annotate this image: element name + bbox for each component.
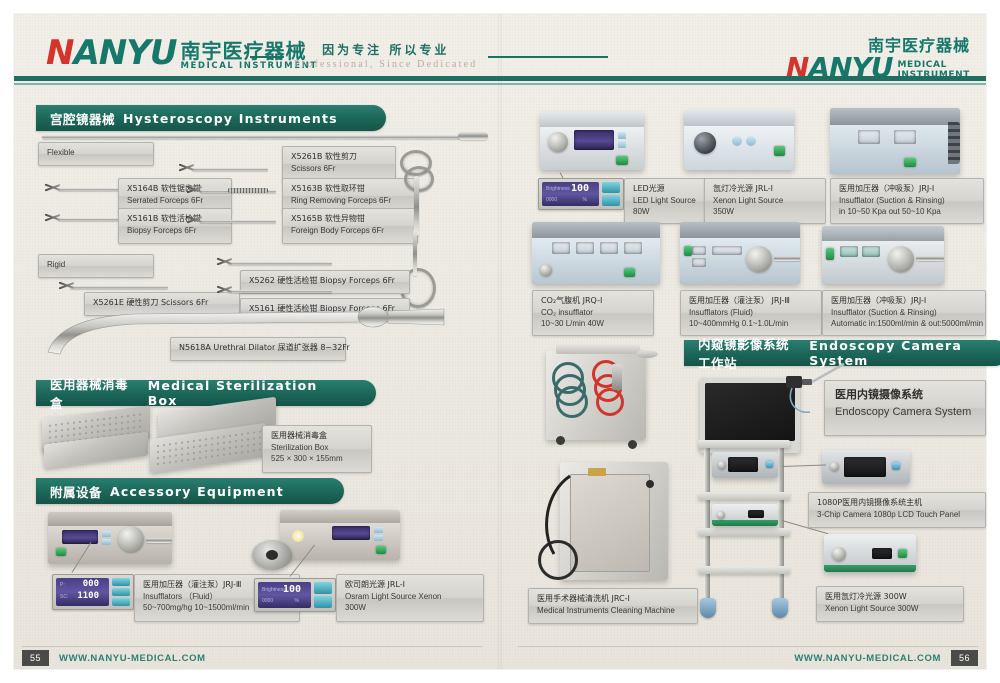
panel-led-keys[interactable] <box>602 182 620 206</box>
device-label-insufflator-suction-2-line2: Insufflator (Suction & Rinsing) <box>831 307 977 319</box>
device-label-xenon-line1: 氙灯冷光源 JRL-Ⅰ <box>713 183 817 195</box>
device-led-knob <box>548 132 568 152</box>
device-xenon-btn1 <box>732 136 742 146</box>
panel-insufflator-fluid-value1: 000 <box>83 579 99 589</box>
device-led-light-source <box>540 112 644 170</box>
instrument-label-rigid-biopsy-x5262-text: X5262 硬性活检钳 Biopsy Forceps 6Fr <box>249 275 401 287</box>
brand-wordmark-rest: ANYU <box>73 33 176 73</box>
panel-osram-unit2: % <box>295 598 299 604</box>
device-cleaning-cart-top <box>556 344 640 354</box>
scissors-ring-bottom <box>404 166 434 192</box>
trolley-camera-unit-knob <box>718 461 726 469</box>
footer-left: 55 WWW.NANYU-MEDICAL.COM <box>22 647 216 669</box>
panel-insufflator-fluid-label1: P: <box>60 582 65 588</box>
instrument-label-ring-removing-cn: X5163B 软性取环钳 <box>291 183 409 195</box>
instrument-scissors-shaft <box>192 168 268 171</box>
instrument-label-urethral-dilator: N5618A Urethral Dilator 尿道扩张器 8~32Fr <box>170 337 346 361</box>
instrument-rigid-biopsy2-shaft <box>228 290 332 293</box>
tagline-text: 因为专注 所以专业 Professional, Since Dedicated <box>294 44 478 70</box>
device-insufflator-fluid-btn1 <box>102 531 111 537</box>
instrument-label-foreign-body-en: Foreign Body Forceps 6Fr <box>291 225 409 237</box>
device-osram-btn1 <box>374 527 383 533</box>
cleaning-cart-caster-2 <box>628 440 637 449</box>
brand-wordmark: NANYU <box>46 36 176 70</box>
instrument-rigid-biopsy1-shaft <box>228 262 332 265</box>
group-label-rigid: Rigid <box>38 254 154 278</box>
trolley-camera-unit <box>712 452 778 478</box>
device-label-co2-line1: CO₂气腹机 JRQ-Ⅰ <box>541 295 645 307</box>
header-rule-thick <box>14 76 986 81</box>
device-1080p-camera <box>822 450 910 484</box>
device-insufflator-suction-1-power <box>904 158 916 167</box>
device-insufflator-fluid-2-scr3 <box>712 246 742 255</box>
section-header-accessory-en: Accessory Equipment <box>110 484 284 499</box>
device-insufflator-fluid <box>48 512 172 564</box>
page-gutter <box>498 14 502 669</box>
device-insufflator-fluid-2-pump <box>746 246 772 272</box>
instrument-label-foreign-body: X5165B 软性异物钳 Foreign Body Forceps 6Fr <box>282 208 418 244</box>
device-label-insufflator-fluid-2-line2: Insufflators (Fluid) <box>689 307 813 319</box>
panel-key-down[interactable] <box>112 598 130 606</box>
device-cleaning-cabinet-badge <box>588 468 606 476</box>
panel-led-label2: 0000 <box>546 197 557 203</box>
panel-insufflator-fluid-lcd: P: 000 SC: 1100 <box>56 578 109 606</box>
device-osram-lamp-glow <box>292 530 304 542</box>
device-xenon-300w <box>824 534 916 572</box>
panel-led-key-down[interactable] <box>602 195 620 206</box>
instrument-rigid-scissors-shaft <box>70 286 168 289</box>
footer-url-left[interactable]: WWW.NANYU-MEDICAL.COM <box>59 653 206 664</box>
instrument-label-urethral-dilator-text: N5618A Urethral Dilator 尿道扩张器 8~32Fr <box>179 342 337 354</box>
device-label-xenon: 氙灯冷光源 JRL-Ⅰ Xenon Light Source 350W <box>704 178 826 224</box>
device-label-insufflator-fluid-2-line3: 10~400mmHg 0.1~1.0L/min <box>689 318 813 330</box>
device-label-xenon-line2: Xenon Light Source <box>713 195 817 207</box>
device-label-co2-line2: CO₂ insufflator <box>541 307 645 319</box>
section-header-accessory-cn: 附属设备 <box>50 482 102 501</box>
device-osram-power <box>376 546 386 554</box>
device-insufflator-suction-2-top <box>822 226 944 241</box>
device-insufflator-fluid-2-top <box>680 222 800 238</box>
panel-led-key-up[interactable] <box>602 182 620 193</box>
trolley-light-source-port <box>717 511 725 519</box>
footer-url-right[interactable]: WWW.NANYU-MEDICAL.COM <box>794 653 941 664</box>
sterilization-box-closed <box>42 412 152 468</box>
panel-osram-label2: 0000 <box>262 598 273 604</box>
device-label-insufflator-fluid-2: 医用加压器（灌注泵） JRJ-Ⅲ Insufflators (Fluid) 10… <box>680 290 822 336</box>
device-insufflator-suction-2-tube <box>916 256 944 261</box>
device-label-insufflator-suction-1: 医用加压器（冲吸泵）JRJ-Ⅰ Insufflator (Suction & R… <box>830 178 984 224</box>
camera-system-label-main: 医用内镜摄像系统 Endoscopy Camera System <box>824 380 986 436</box>
panel-led-value1: 100 <box>571 183 589 194</box>
trolley-caster-right <box>772 598 788 618</box>
footer-right: WWW.NANYU-MEDICAL.COM 56 <box>784 647 978 669</box>
instrument-label-scissors: X5261B 软性剪刀 Scissors 6Fr <box>282 146 396 182</box>
panel-osram-key-down[interactable] <box>314 596 332 608</box>
device-label-insufflator-fluid-2-line1: 医用加压器（灌注泵） JRJ-Ⅲ <box>689 295 813 307</box>
cleaning-cabinet-hose-line <box>528 470 588 590</box>
device-insufflator-suction-2-power <box>826 248 834 260</box>
device-osram-lamp-aperture <box>266 550 278 560</box>
device-insufflator-suction-2-scr2 <box>862 246 880 257</box>
instrument-ring-knurl <box>228 188 268 193</box>
device-label-co2-line3: 10~30 L/min 40W <box>541 318 645 330</box>
device-insufflator-suction-1-vents <box>948 122 960 164</box>
device-insufflator-suction-1-screen2 <box>894 130 916 144</box>
panel-led-lcd: Brightness 100 0000 % <box>542 182 599 206</box>
device-xenon-light-source <box>684 110 794 170</box>
device-xenon-btn2 <box>746 136 756 146</box>
device-insufflator-suction-2 <box>822 226 944 284</box>
device-insufflator-suction-2-scr1 <box>840 246 858 257</box>
group-label-rigid-text: Rigid <box>47 259 145 271</box>
device-co2-screen2 <box>576 242 594 254</box>
device-insufflator-suction-1-screen1 <box>858 130 880 144</box>
instrument-label-scissors-cn: X5261B 软性剪刀 <box>291 151 387 163</box>
panel-osram-value1: 100 <box>283 584 301 595</box>
page-number-right: 56 <box>951 650 978 666</box>
device-insufflator-fluid-screen <box>62 530 98 544</box>
group-label-flexible-text: Flexible <box>47 147 145 159</box>
device-xenon-300w-power <box>898 549 907 558</box>
panel-led-unit2: % <box>583 197 587 203</box>
device-osram-light-source <box>280 510 400 560</box>
device-insufflator-fluid-2 <box>680 222 800 284</box>
trolley-camera-unit-btn <box>766 461 773 468</box>
device-insufflator-fluid-top <box>48 512 172 526</box>
device-1080p-camera-screen <box>844 457 886 477</box>
panel-led: Brightness 100 0000 % <box>538 178 624 210</box>
accessory-label-osram: 欧司朗光源 JRL-Ⅰ Osram Light Source Xenon 300… <box>336 574 484 622</box>
device-insufflator-fluid-power <box>56 548 66 556</box>
panel-insufflator-fluid-value2: 1100 <box>77 591 99 601</box>
device-label-cleaning-machine-line1: 医用手术器械清洗机 JRC-Ⅰ <box>537 593 689 605</box>
device-label-cleaning-machine: 医用手术器械清洗机 JRC-Ⅰ Medical Instruments Clea… <box>528 588 698 624</box>
device-led-btn1 <box>618 132 626 139</box>
panel-led-label1: Brightness <box>546 186 570 192</box>
camera-system-label-main-line1: 医用内镜摄像系统 <box>835 387 975 404</box>
group-label-flexible: Flexible <box>38 142 154 166</box>
trolley-light-source-unit <box>712 504 778 526</box>
device-insufflator-fluid-2-tube <box>774 256 800 261</box>
device-co2-top <box>532 222 660 238</box>
cleaning-hose-teal-3 <box>556 386 588 418</box>
camera-system-label-xenon-300w: 医用氙灯冷光源 300W Xenon Light Source 300W <box>816 586 964 622</box>
instrument-label-ring-removing-en: Ring Removing Forceps 6Fr <box>291 195 409 207</box>
accessory-label-osram-line2: Osram Light Source Xenon <box>345 591 475 603</box>
trolley-camera-unit-screen <box>728 457 758 472</box>
brand-tagline: 因为专注 所以专业 Professional, Since Dedicated <box>250 44 608 70</box>
scissors-lower-shaft <box>413 230 417 276</box>
camera-system-label-1080p-line2: 3-Chip Camera 1080p LCD Touch Panel <box>817 509 977 521</box>
device-1080p-camera-knob <box>830 462 839 471</box>
brand-logo-right: 南宇医疗器械 NANYU MEDICAL INSTRUMENT <box>786 32 970 82</box>
device-co2-insufflator <box>532 222 660 284</box>
scissors-body <box>414 176 419 236</box>
section-header-sterilization-cn: 医用器械消毒盒 <box>50 374 140 412</box>
section-header-hysteroscopy: 宫腔镜器械 Hysteroscopy Instruments <box>36 105 386 131</box>
panel-key-mid[interactable] <box>112 588 130 596</box>
device-insufflator-fluid-2-scr1 <box>692 246 706 255</box>
device-label-insufflator-suction-1-line3: in 10~50 Kpa out 50~10 Kpa <box>839 206 975 218</box>
instrument-label-serrated-en: Serrated Forceps 6Fr <box>127 195 223 207</box>
section-header-hysteroscopy-cn: 宫腔镜器械 <box>50 109 115 128</box>
tagline-cn: 因为专注 所以专业 <box>294 44 478 58</box>
section-header-sterilization: 医用器械消毒盒 Medical Sterilization Box <box>36 380 376 406</box>
device-osram-screen <box>332 526 370 540</box>
tagline-dash-right <box>488 56 608 58</box>
trolley-shelf-3 <box>698 528 790 536</box>
device-led-power <box>616 156 628 165</box>
device-xenon-300w-stripe <box>824 565 916 572</box>
cleaning-cart-tray <box>636 350 658 358</box>
device-led-top <box>540 112 644 127</box>
sterilization-box-label: 医用器械消毒盒 Sterilization Box 525 × 300 × 15… <box>262 425 372 473</box>
device-insufflator-suction-2-pump <box>888 246 914 272</box>
sterilization-box-label-line1: 医用器械消毒盒 <box>271 430 363 442</box>
device-insufflator-fluid-tube <box>146 538 172 543</box>
device-led-screen <box>574 130 614 150</box>
cleaning-cart-caster-1 <box>556 436 565 445</box>
panel-insufflator-fluid-label2: SC: <box>60 594 68 600</box>
camera-system-label-xenon-300w-line2: Xenon Light Source 300W <box>825 603 955 615</box>
device-insufflator-suction-1 <box>830 108 960 174</box>
catalog-spread: NANYU 南宇医疗器械 MEDICAL INSTRUMENT 因为专注 所以专… <box>0 0 1000 683</box>
device-xenon-300w-display <box>872 548 892 559</box>
sterilization-box-label-line2: Sterilization Box <box>271 442 363 454</box>
device-xenon-top <box>684 110 794 126</box>
instrument-foreign-body-shaft <box>200 220 276 223</box>
tagline-en: Professional, Since Dedicated <box>294 59 478 71</box>
accessory-label-osram-line3: 300W <box>345 602 475 614</box>
camera-system-label-1080p-line1: 1080P医用内镜摄像系统主机 <box>817 497 977 509</box>
device-led-btn2 <box>618 141 626 148</box>
device-label-insufflator-suction-1-line2: Insufflator (Suction & Rinsing) <box>839 195 975 207</box>
instrument-label-foreign-body-cn: X5165B 软性异物钳 <box>291 213 409 225</box>
panel-insufflator-fluid-keys[interactable] <box>112 578 130 606</box>
trolley-light-source-stripe <box>712 520 778 526</box>
device-co2-power <box>624 268 635 277</box>
device-label-insufflator-suction-2-line1: 医用加压器（冲吸泵）JRJ-Ⅰ <box>831 295 977 307</box>
trolley-caster-left <box>700 598 716 618</box>
instrument-label-biopsy-flex: X5161B 软性活检钳 Biopsy Forceps 6Fr <box>118 208 232 244</box>
device-xenon-port <box>694 132 716 154</box>
cleaning-spray-gun <box>612 364 622 390</box>
trolley-light-source-display <box>748 510 764 518</box>
trolley-shelf-1 <box>698 440 790 448</box>
sterilization-box-label-line3: 525 × 300 × 155mm <box>271 453 363 465</box>
device-co2-screen1 <box>552 242 570 254</box>
device-label-xenon-line3: 350W <box>713 206 817 218</box>
trolley-shelf-2 <box>698 492 790 500</box>
device-insufflator-suction-1-top <box>830 108 960 125</box>
device-osram-btn2 <box>374 535 383 541</box>
section-header-hysteroscopy-en: Hysteroscopy Instruments <box>123 111 338 126</box>
flexible-scope-shaft <box>42 135 462 139</box>
device-label-cleaning-machine-line2: Medical Instruments Cleaning Machine <box>537 605 689 617</box>
brand-wordmark-n: N <box>46 33 73 73</box>
tagline-dash-left <box>250 56 284 58</box>
flexible-scope-tip <box>458 132 488 140</box>
trolley-post-left <box>704 440 710 600</box>
section-header-accessory: 附属设备 Accessory Equipment <box>36 478 344 504</box>
device-xenon-power <box>774 146 785 156</box>
sterilization-box-open <box>150 405 280 473</box>
accessory-label-osram-line1: 欧司朗光源 JRL-Ⅰ <box>345 579 475 591</box>
device-label-insufflator-suction-1-line1: 医用加压器（冲吸泵）JRJ-Ⅰ <box>839 183 975 195</box>
camera-system-label-1080p: 1080P医用内镜摄像系统主机 3-Chip Camera 1080p LCD … <box>808 492 986 528</box>
camera-system-label-xenon-300w-line1: 医用氙灯冷光源 300W <box>825 591 955 603</box>
page-number-left: 55 <box>22 650 49 666</box>
panel-osram: Brightness 100 0000 % <box>254 578 336 612</box>
trolley-shelf-4 <box>698 566 790 574</box>
device-co2-screen4 <box>624 242 642 254</box>
device-cleaning-cabinet-knob <box>646 480 654 488</box>
device-insufflator-fluid-btn2 <box>102 539 111 545</box>
device-insufflator-fluid-2-power <box>684 246 692 256</box>
instrument-label-biopsy-flex-en: Biopsy Forceps 6Fr <box>127 225 223 237</box>
device-1080p-camera-btn <box>892 462 900 470</box>
device-co2-screen3 <box>600 242 618 254</box>
panel-osram-keys[interactable] <box>314 582 332 608</box>
camera-system-label-main-line2: Endoscopy Camera System <box>835 404 975 421</box>
device-co2-gas-port <box>540 264 552 276</box>
device-insufflator-fluid-pump-head <box>118 526 144 552</box>
panel-osram-lcd: Brightness 100 0000 % <box>258 582 311 608</box>
device-insufflator-fluid-2-scr2 <box>692 258 706 267</box>
device-label-co2: CO₂气腹机 JRQ-Ⅰ CO₂ insufflator 10~30 L/min… <box>532 290 654 336</box>
panel-key-up[interactable] <box>112 578 130 586</box>
device-label-insufflator-suction-2-line3: Automatic in:1500ml/min & out:5000ml/min <box>831 318 977 330</box>
device-osram-top <box>280 510 400 523</box>
panel-insufflator-fluid: P: 000 SC: 1100 <box>52 574 134 610</box>
header-rule-thin <box>14 83 986 85</box>
cleaning-hose-red-3 <box>596 388 624 416</box>
device-label-insufflator-suction-2: 医用加压器（冲吸泵）JRJ-Ⅰ Insufflator (Suction & R… <box>822 290 986 336</box>
instrument-label-scissors-en: Scissors 6Fr <box>291 163 387 175</box>
panel-osram-key-up[interactable] <box>314 582 332 594</box>
device-xenon-300w-port <box>832 547 846 561</box>
